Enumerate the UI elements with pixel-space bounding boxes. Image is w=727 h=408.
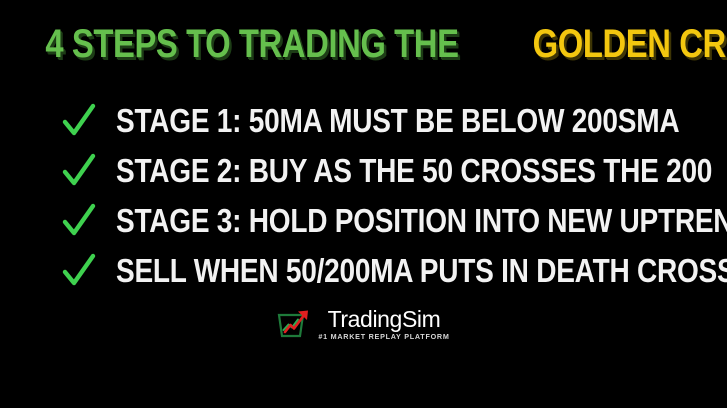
list-item: STAGE 3: HOLD POSITION INTO NEW UPTREND <box>0 196 727 246</box>
check-icon <box>62 152 96 190</box>
list-item-label: STAGE 3: HOLD POSITION INTO NEW UPTREND <box>116 203 727 239</box>
brand-logo: TradingSim #1 MARKET REPLAY PLATFORM <box>0 306 727 342</box>
page-title: 4 STEPS TO TRADING THE GOLDEN CROSS <box>0 22 727 66</box>
brand-logo-inner: TradingSim #1 MARKET REPLAY PLATFORM <box>277 306 449 342</box>
list-item: SELL WHEN 50/200MA PUTS IN DEATH CROSS <box>0 246 727 296</box>
list-item-label: STAGE 2: BUY AS THE 50 CROSSES THE 200 <box>116 153 712 189</box>
list-item: STAGE 1: 50MA MUST BE BELOW 200SMA <box>0 96 727 146</box>
list-item-label: STAGE 1: 50MA MUST BE BELOW 200SMA <box>116 103 679 139</box>
brand-wordmark: TradingSim <box>328 307 441 331</box>
chart-arrow-up-icon <box>277 309 311 339</box>
slide-canvas: 4 STEPS TO TRADING THE GOLDEN CROSS STAG… <box>0 0 727 408</box>
brand-logo-text: TradingSim #1 MARKET REPLAY PLATFORM <box>318 306 449 342</box>
brand-tagline: #1 MARKET REPLAY PLATFORM <box>318 332 449 342</box>
page-title-highlight: GOLDEN CROSS <box>533 22 727 66</box>
steps-list: STAGE 1: 50MA MUST BE BELOW 200SMA STAGE… <box>0 96 727 296</box>
check-icon <box>62 102 96 140</box>
page-title-primary: 4 STEPS TO TRADING THE <box>45 22 458 66</box>
list-item-label: SELL WHEN 50/200MA PUTS IN DEATH CROSS <box>116 253 727 289</box>
check-icon <box>62 202 96 240</box>
check-icon <box>62 252 96 290</box>
list-item: STAGE 2: BUY AS THE 50 CROSSES THE 200 <box>0 146 727 196</box>
